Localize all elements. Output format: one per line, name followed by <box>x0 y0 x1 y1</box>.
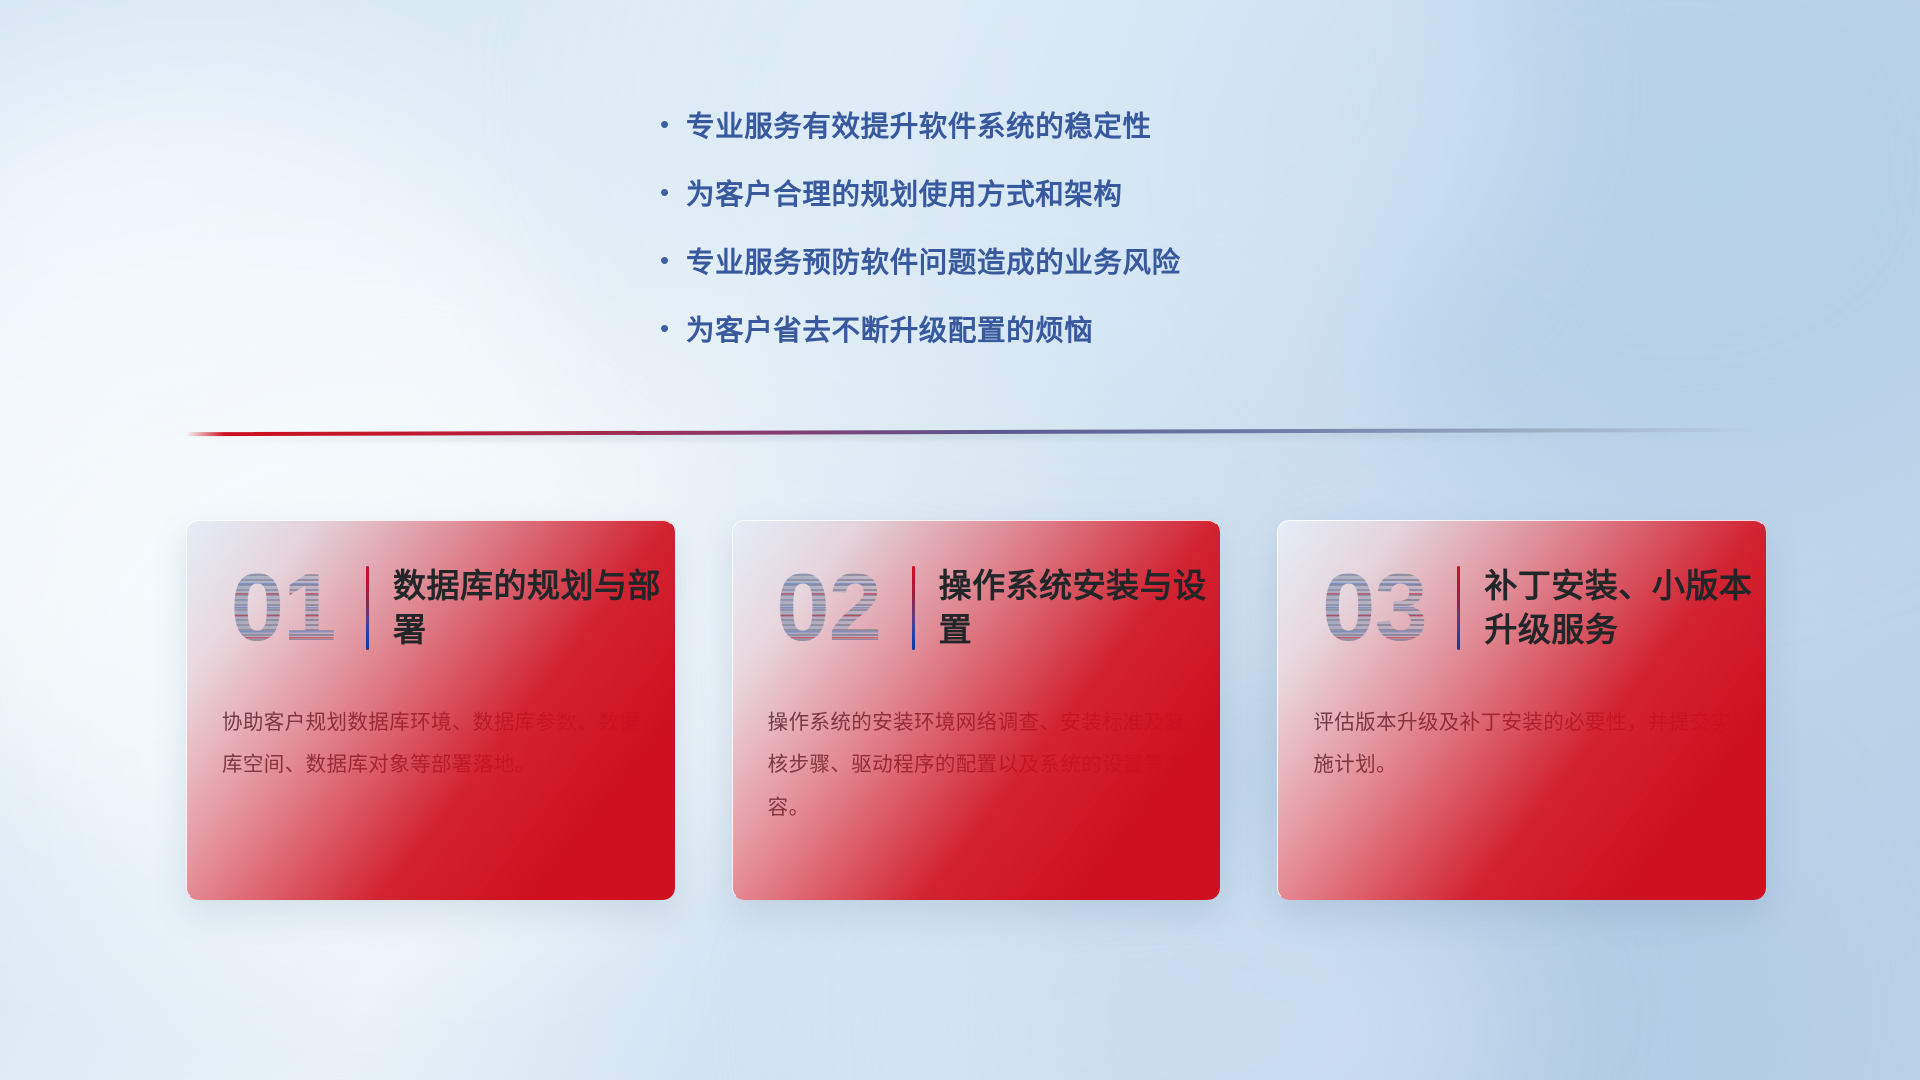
card-body-3: 评估版本升级及补丁安装的必要性，并提交实施计划。 <box>1277 696 1766 787</box>
bullet-item-2: • 为客户合理的规划使用方式和架构 <box>660 172 1520 213</box>
card-body-1: 协助客户规划数据库环境、数据库参数、数据库空间、数据库对象等部署落地。 <box>186 696 675 787</box>
card-title-2: 操作系统安装与设置 <box>939 564 1221 652</box>
bullet-dot-icon: • <box>660 111 686 137</box>
bullet-label-2: 为客户合理的规划使用方式和架构 <box>686 172 1123 213</box>
service-card-group: 01 01 数据库的规划与部署 协助客户规划数据库环境、数据库参数、数据库空间、… <box>186 520 1766 900</box>
bullet-dot-icon: • <box>660 315 686 341</box>
service-card-1[interactable]: 01 01 数据库的规划与部署 协助客户规划数据库环境、数据库参数、数据库空间、… <box>186 520 675 900</box>
service-card-2[interactable]: 02 02 操作系统安装与设置 操作系统的安装环境网络调查、安装标准及复核步骤、… <box>732 520 1221 900</box>
card-title-3: 补丁安装、小版本升级服务 <box>1484 564 1766 652</box>
card-number-3: 03 03 <box>1299 549 1449 667</box>
bullet-item-1: • 专业服务有效提升软件系统的稳定性 <box>660 104 1520 145</box>
card-body-2: 操作系统的安装环境网络调查、安装标准及复核步骤、驱动程序的配置以及系统的设置等内… <box>732 696 1221 829</box>
card-accent-rule <box>1457 566 1460 650</box>
card-header-2: 02 02 操作系统安装与设置 <box>732 520 1221 696</box>
bullet-dot-icon: • <box>660 247 686 273</box>
card-accent-rule <box>366 566 369 650</box>
slide-canvas: • 专业服务有效提升软件系统的稳定性 • 为客户合理的规划使用方式和架构 • 专… <box>0 0 1920 1080</box>
card-number-color-streaks: 03 <box>1299 549 1449 667</box>
service-card-3[interactable]: 03 03 补丁安装、小版本升级服务 评估版本升级及补丁安装的必要性，并提交实施… <box>1277 520 1766 900</box>
card-accent-rule <box>912 566 915 650</box>
card-number-2: 02 02 <box>754 549 904 667</box>
bullet-label-1: 专业服务有效提升软件系统的稳定性 <box>686 104 1152 145</box>
card-number-color-streaks: 02 <box>754 549 904 667</box>
bullet-dot-icon: • <box>660 179 686 205</box>
card-title-1: 数据库的规划与部署 <box>393 564 675 652</box>
bullet-label-3: 专业服务预防软件问题造成的业务风险 <box>686 240 1181 281</box>
card-number-1: 01 01 <box>208 549 358 667</box>
card-number-color-streaks: 01 <box>208 549 358 667</box>
benefits-bullet-list: • 专业服务有效提升软件系统的稳定性 • 为客户合理的规划使用方式和架构 • 专… <box>660 104 1520 376</box>
section-divider <box>186 424 1756 440</box>
bullet-label-4: 为客户省去不断升级配置的烦恼 <box>686 308 1093 349</box>
bullet-item-3: • 专业服务预防软件问题造成的业务风险 <box>660 240 1520 281</box>
card-header-3: 03 03 补丁安装、小版本升级服务 <box>1277 520 1766 696</box>
bullet-item-4: • 为客户省去不断升级配置的烦恼 <box>660 308 1520 349</box>
card-header-1: 01 01 数据库的规划与部署 <box>186 520 675 696</box>
